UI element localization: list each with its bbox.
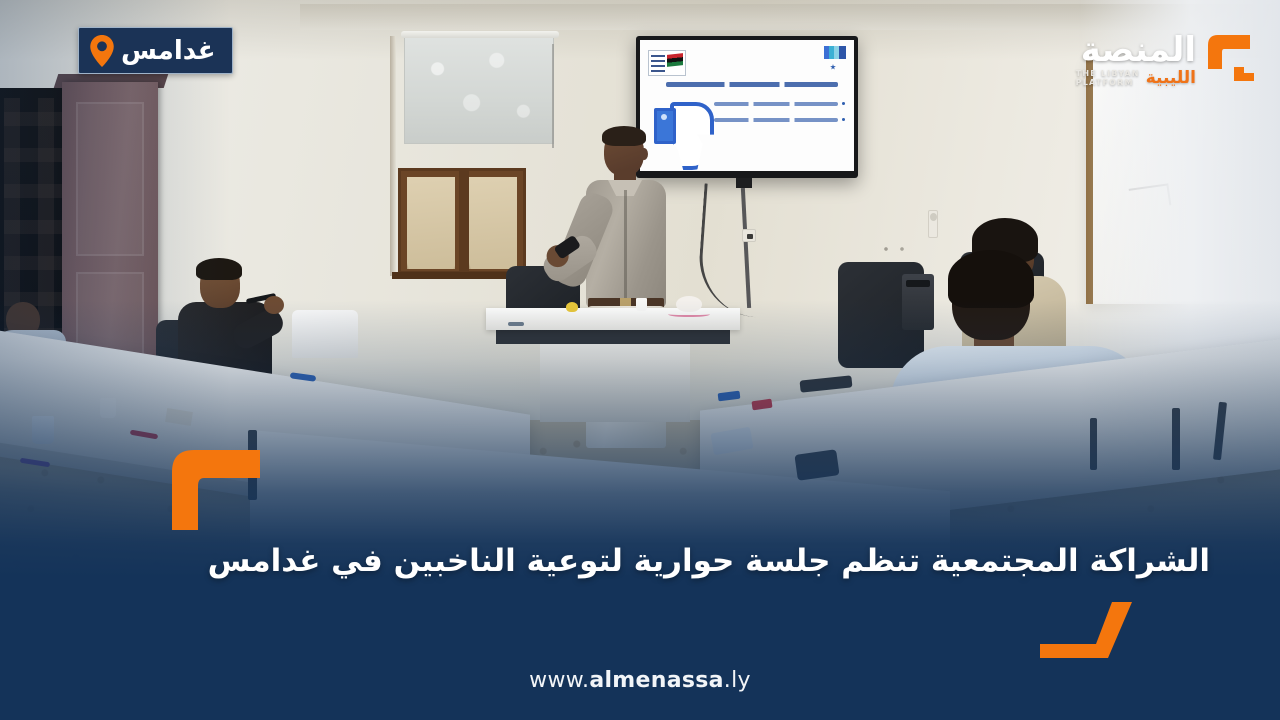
bracket-logo-icon xyxy=(1200,29,1262,91)
website-url: www.almenassa.ly xyxy=(0,668,1280,693)
headline-text: الشراكة المجتمعية تنظم جلسة حوارية لتوعي… xyxy=(0,542,1280,581)
logo-subtitle-row: THE LIBYANPLATFORM الليبية xyxy=(1076,69,1196,87)
logo-arabic-name: المنصة xyxy=(1081,33,1196,67)
logo-english-name: THE LIBYANPLATFORM xyxy=(1076,69,1140,87)
url-prefix: www. xyxy=(529,668,589,693)
url-suffix: .ly xyxy=(724,668,751,693)
logo-wordmark: المنصة THE LIBYANPLATFORM الليبية xyxy=(1076,33,1196,87)
url-brand: almenassa xyxy=(589,668,723,693)
site-logo: المنصة THE LIBYANPLATFORM الليبية xyxy=(1050,18,1262,102)
location-label: غدامس xyxy=(121,38,216,64)
map-pin-icon xyxy=(89,35,115,67)
location-badge: غدامس xyxy=(78,27,233,74)
orange-bracket-left-icon xyxy=(168,448,260,530)
orange-bracket-right-icon xyxy=(1038,600,1132,658)
logo-arabic-subtitle: الليبية xyxy=(1146,70,1196,87)
screenshot-canvas: غدامس المنصة THE LIBYANPLATFORM الليبية … xyxy=(0,0,1280,720)
